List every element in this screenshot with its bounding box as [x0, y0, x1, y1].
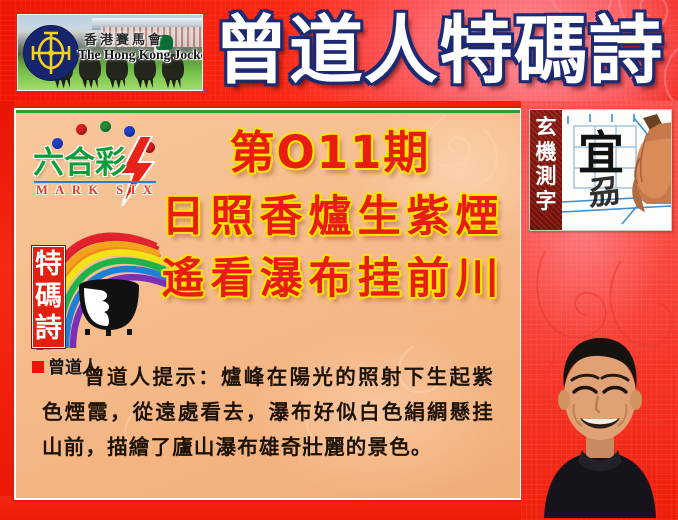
panel-top-green-line: [16, 110, 520, 113]
page-title: 曾道人特碼詩: [214, 10, 664, 92]
hand-holding-brush-icon: [623, 112, 671, 230]
hkjc-english-name: The Hong Kong Jockey Club: [78, 47, 203, 63]
poem-block: 第O11期 日照香爐生紫煙 遙看瀑布挂前川: [144, 124, 516, 310]
tema-poem-label: 特碼詩: [33, 249, 64, 345]
lottery-ball: [76, 124, 87, 135]
calligraphy-character-secondary: 刕: [586, 174, 622, 210]
poem-line-1: 日照香爐生紫煙: [144, 186, 516, 248]
main-content-panel: 六合彩 MARK SIX 特碼詩: [14, 108, 522, 500]
issue-number: 第O11期: [144, 124, 516, 182]
tip-paragraph: 曾道人提示：爐峰在陽光的照射下生起紫色煙霞，從遠處看去，瀑布好似白色絹綢懸挂山前…: [42, 360, 494, 465]
treasure-pot-icon: [76, 274, 142, 336]
xuanji-label-text: 玄機測字: [530, 110, 562, 213]
hkjc-chinese-name: 香港賽馬會: [84, 29, 164, 48]
tema-poem-badge: 特碼詩: [32, 246, 65, 348]
hkjc-emblem-icon: [23, 25, 79, 81]
poster-header: 香港賽馬會 The Hong Kong Jockey Club 曾道人特碼詩: [0, 0, 678, 101]
left-red-strip: [0, 101, 14, 520]
xuanji-divination-card[interactable]: 玄機測字: [529, 109, 672, 231]
marksix-chinese-label: 六合彩: [33, 147, 126, 180]
xuanji-label-strip: 玄機測字: [530, 110, 562, 230]
hkjc-banner: 香港賽馬會 The Hong Kong Jockey Club: [17, 14, 203, 91]
lottery-ball: [100, 121, 111, 132]
poem-line-2: 遙看瀑布挂前川: [144, 248, 516, 310]
lottery-poster: 香港賽馬會 The Hong Kong Jockey Club 曾道人特碼詩: [0, 0, 678, 520]
calligraphy-character: 宜: [578, 130, 624, 176]
calligraphy-image: 宜 刕: [562, 110, 671, 230]
marksix-english-label: MARK SIX: [36, 183, 160, 198]
right-side-panel: 玄機測字: [521, 101, 678, 520]
fortune-teller-portrait: [530, 322, 670, 518]
